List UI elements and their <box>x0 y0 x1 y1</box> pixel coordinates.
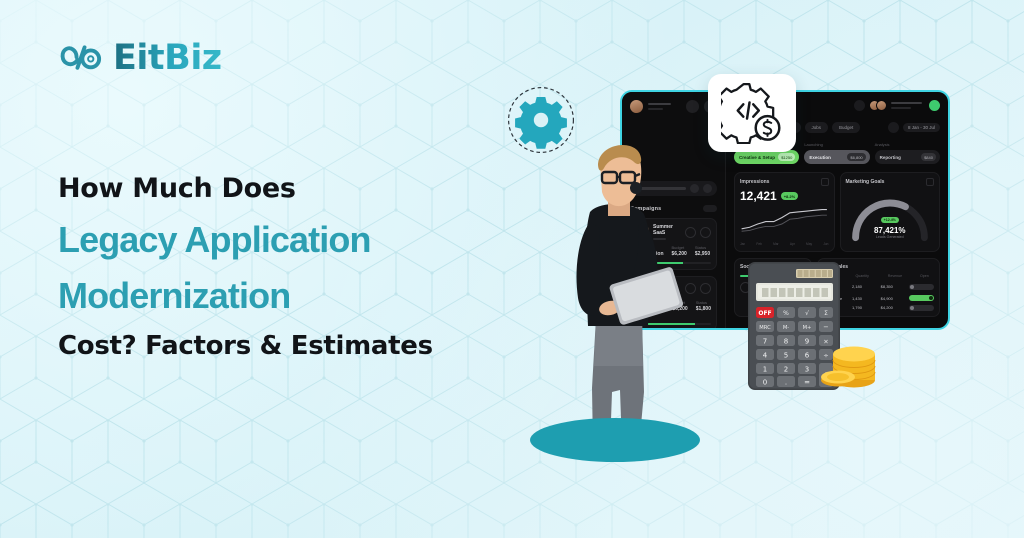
svg-text:9: 9 <box>805 338 809 346</box>
svg-text:4: 4 <box>763 352 768 360</box>
svg-text:%: % <box>783 310 789 317</box>
marketing-goals-title: Marketing Goals <box>846 179 885 185</box>
svg-text:1: 1 <box>763 366 767 374</box>
svg-text:8: 8 <box>784 338 788 346</box>
svg-text:2: 2 <box>784 366 788 374</box>
svg-text:√: √ <box>805 310 809 317</box>
notification-icon[interactable] <box>854 100 865 111</box>
svg-text:Σ: Σ <box>824 310 828 317</box>
expand-icon[interactable] <box>926 178 934 186</box>
headline-line-1: How Much Does <box>58 172 528 207</box>
svg-text:.: . <box>785 379 787 387</box>
expand-icon[interactable] <box>821 178 829 186</box>
stage-reporting[interactable]: Analysis Reporting $840 <box>875 142 940 164</box>
refresh-icon[interactable] <box>888 122 899 133</box>
svg-text:0: 0 <box>763 379 767 387</box>
avatar <box>630 100 643 113</box>
goals-subtitle: Leads Generated <box>846 235 935 239</box>
status-badge <box>929 100 940 111</box>
impressions-sparkline <box>740 205 829 235</box>
date-range-picker[interactable]: 8 Jan - 30 Jul <box>903 123 940 132</box>
hero-illustration: Campaigns Summer SaaS Type Convers <box>490 0 1024 538</box>
svg-text:=: = <box>804 379 810 387</box>
headline-highlight-2: Modernization <box>58 272 290 320</box>
headline-highlight-1: Legacy Application <box>58 216 371 264</box>
marketing-goals-gauge: +12.4% 87,421% Leads Generated <box>846 188 935 246</box>
tab-budget[interactable]: Budget <box>832 122 860 133</box>
gold-coin-stack-icon <box>818 340 880 392</box>
row-toggle[interactable] <box>909 305 934 311</box>
podium-ellipse <box>530 418 700 462</box>
brand-name: EitBiz <box>113 38 222 78</box>
eb-monogram-icon <box>58 41 104 75</box>
impressions-value: 12,421 +8.2% <box>740 189 829 203</box>
headline-highlight-2-text: Modernization <box>58 275 290 316</box>
svg-text:M+: M+ <box>803 325 812 331</box>
avatar-group <box>869 100 887 111</box>
headline-highlight-1-wrap: Legacy Application <box>58 216 528 264</box>
row-toggle[interactable] <box>909 295 934 301</box>
metric-cards: Impressions 12,421 +8.2% Jan Feb Ma <box>734 172 940 252</box>
brand-logo[interactable]: EitBiz <box>58 38 222 78</box>
gear-code-dollar-icon <box>721 82 783 144</box>
row-toggle[interactable] <box>909 284 934 290</box>
svg-text:MRC: MRC <box>759 325 771 331</box>
impressions-axis: Jan Feb Mar Apr May Jun <box>740 242 829 246</box>
svg-text:5: 5 <box>784 352 788 360</box>
headline-line-2: Cost? Factors & Estimates <box>58 331 528 361</box>
svg-text:−: − <box>823 323 828 331</box>
impressions-title: Impressions <box>740 179 769 185</box>
sidebar-user-name <box>648 103 681 111</box>
svg-text:7: 7 <box>763 338 767 346</box>
marketing-goals-card: Marketing Goals +12.4% 87,421% Leads Gen… <box>840 172 941 252</box>
headline-highlight-2-wrap: Modernization <box>58 272 528 320</box>
headline-highlight-1-text: Legacy Application <box>58 219 371 260</box>
gear-code-dollar-badge <box>708 74 796 152</box>
tab-jobs[interactable]: Jobs <box>805 122 829 133</box>
sidebar-user[interactable] <box>630 100 717 113</box>
bell-icon[interactable] <box>686 100 699 113</box>
stage-execution[interactable]: Launching Execution $6,800 <box>804 142 869 164</box>
page-title: How Much Does Legacy Application Moderni… <box>58 172 528 361</box>
impressions-delta-badge: +8.2% <box>781 192 798 200</box>
svg-text:3: 3 <box>805 366 809 374</box>
svg-text:OFF: OFF <box>758 310 771 317</box>
goals-delta-badge: +12.4% <box>881 217 899 223</box>
goals-value: 87,421% <box>846 226 935 235</box>
svg-text:M-: M- <box>783 325 789 331</box>
svg-text:6: 6 <box>805 352 810 360</box>
impressions-card: Impressions 12,421 +8.2% Jan Feb Ma <box>734 172 835 252</box>
man-with-tablet-illustration <box>538 130 708 460</box>
